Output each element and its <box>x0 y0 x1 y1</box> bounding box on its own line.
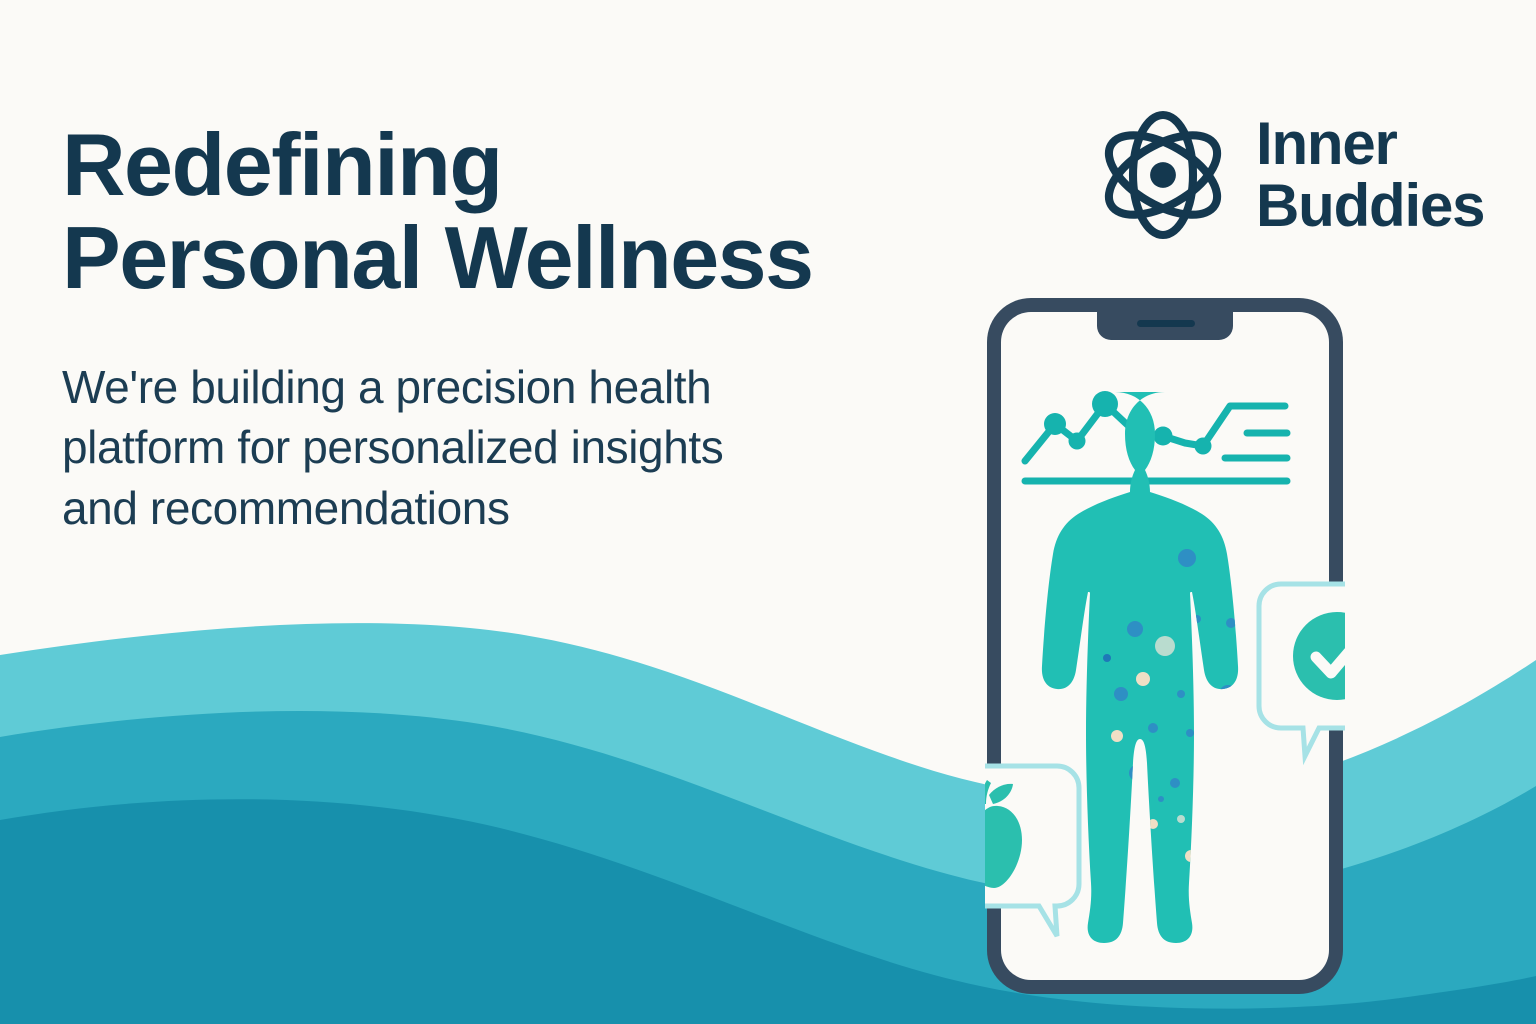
body-marker-dot <box>1177 690 1185 698</box>
chart-point <box>1195 438 1212 455</box>
phone-mockup <box>985 296 1345 996</box>
body-marker-dot <box>1148 723 1158 733</box>
chart-point <box>1044 413 1066 435</box>
atom-nucleus-icon <box>1150 162 1176 188</box>
body-marker-dot <box>1158 796 1164 802</box>
body-marker-dot <box>1136 672 1150 686</box>
body-marker-dot <box>1177 815 1185 823</box>
hero-text-block: Redefining Personal Wellness We're build… <box>62 118 962 539</box>
chart-point <box>1092 391 1118 417</box>
body-marker-dot <box>1186 729 1194 737</box>
promo-banner: Redefining Personal Wellness We're build… <box>0 0 1536 1024</box>
body-marker-dot <box>1170 778 1180 788</box>
body-marker-dot <box>1103 654 1111 662</box>
body-marker-dot <box>1114 687 1128 701</box>
page-subtitle: We're building a precision health platfo… <box>62 357 962 539</box>
body-marker-dot <box>1155 636 1175 656</box>
page-title: Redefining Personal Wellness <box>62 118 962 305</box>
body-marker-dot <box>1111 730 1123 742</box>
chart-point <box>1069 433 1086 450</box>
brand-wordmark: Inner Buddies <box>1256 113 1484 237</box>
chart-point <box>1154 427 1173 446</box>
brand-logo[interactable]: Inner Buddies <box>1088 92 1508 257</box>
body-marker-dot <box>1226 618 1236 628</box>
body-marker-dot <box>1178 549 1196 567</box>
body-marker-dot <box>1127 621 1143 637</box>
phone-speaker-icon <box>1137 320 1195 327</box>
atom-icon <box>1088 100 1238 250</box>
